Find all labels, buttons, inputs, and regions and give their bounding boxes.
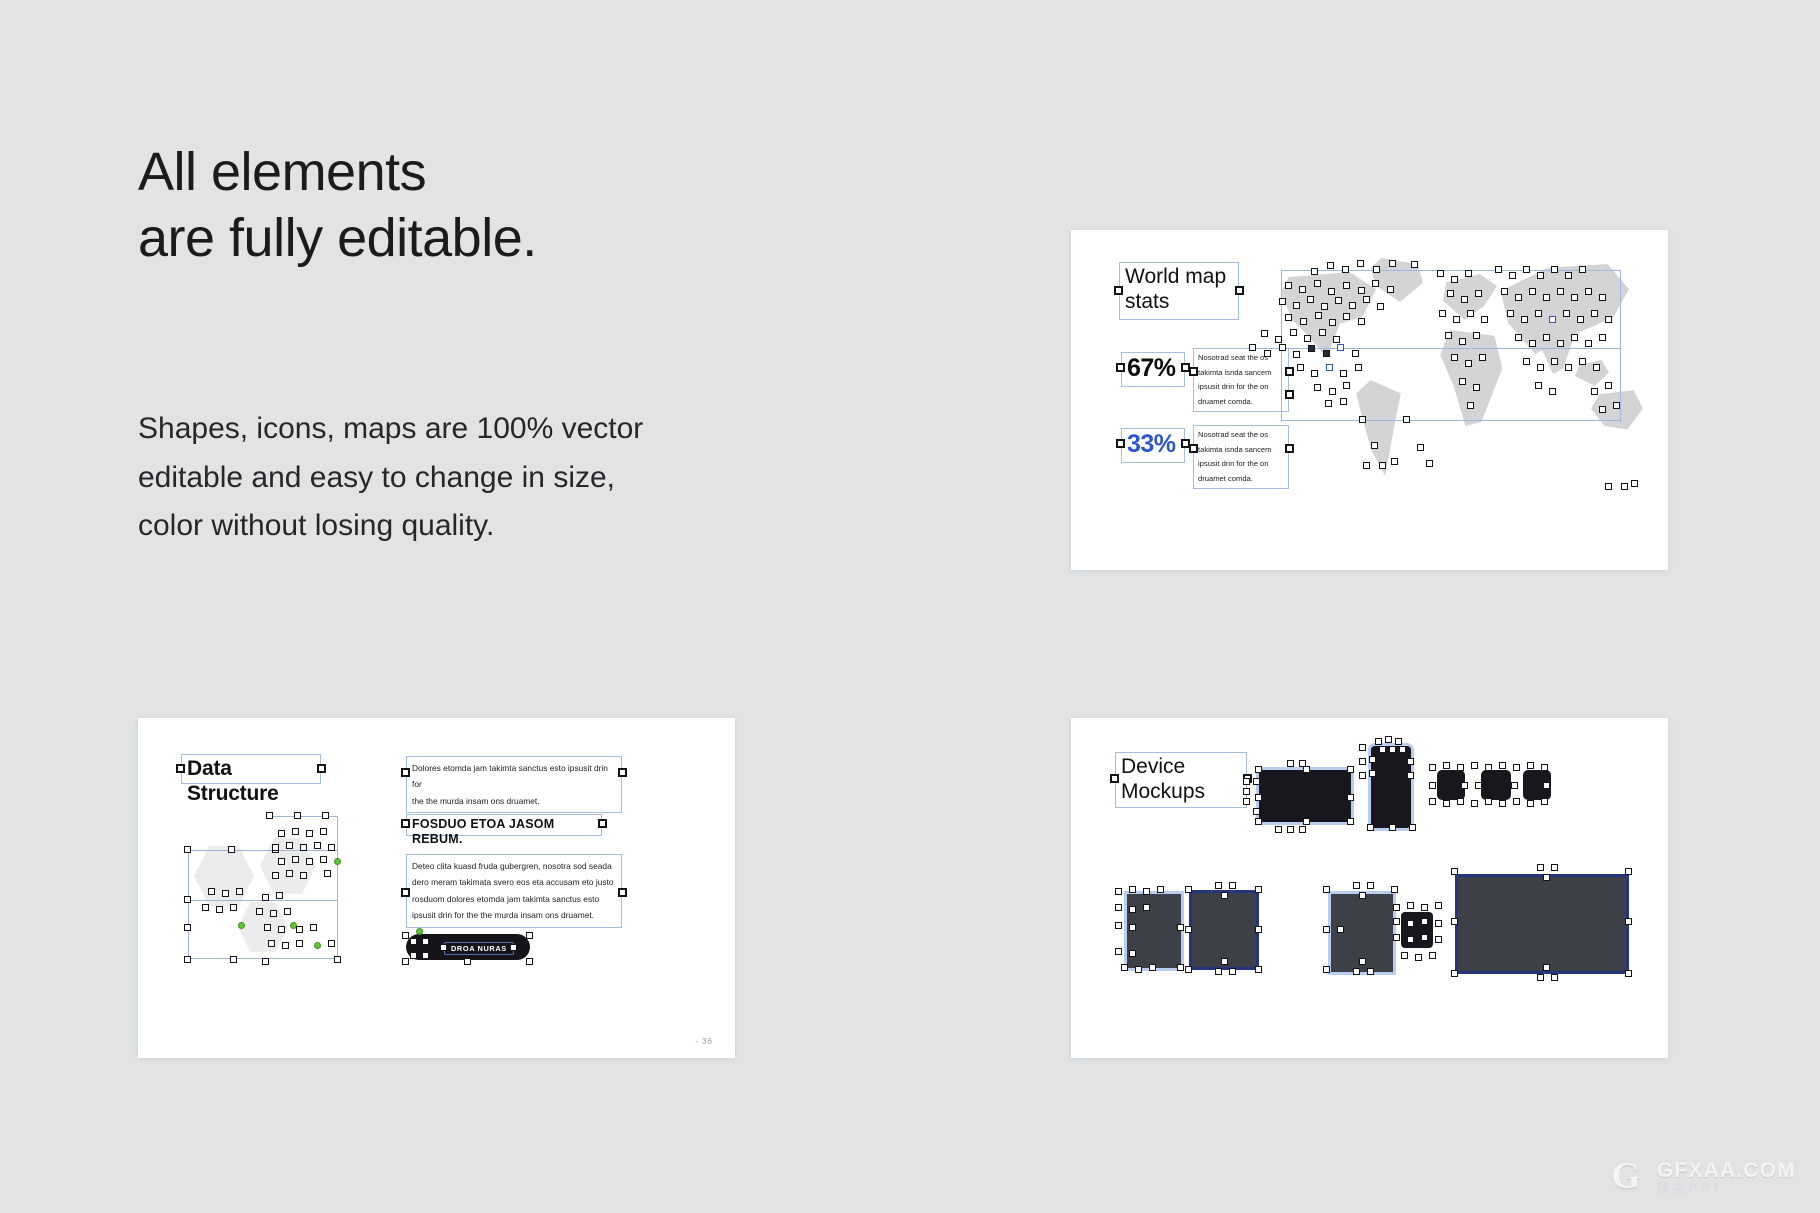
map-marker[interactable]	[1613, 402, 1620, 409]
selection-handle[interactable]	[1359, 958, 1366, 965]
selection-handle[interactable]	[208, 888, 215, 895]
selection-handle[interactable]	[272, 844, 279, 851]
map-marker[interactable]	[1465, 360, 1472, 367]
selection-handle[interactable]	[262, 894, 269, 901]
map-marker[interactable]	[1571, 334, 1578, 341]
map-marker[interactable]	[1571, 294, 1578, 301]
device-small-widget[interactable]	[1481, 770, 1511, 800]
selection-handle[interactable]	[1511, 782, 1518, 789]
selection-handle[interactable]	[1421, 904, 1428, 911]
map-marker[interactable]	[1417, 444, 1424, 451]
selection-handle[interactable]	[1407, 758, 1414, 765]
map-marker[interactable]	[1373, 266, 1380, 273]
selection-handle[interactable]	[296, 926, 303, 933]
selection-handle[interactable]	[1513, 764, 1520, 771]
map-marker[interactable]	[1599, 334, 1606, 341]
selection-handle[interactable]	[282, 942, 289, 949]
selection-handle[interactable]	[1429, 782, 1436, 789]
map-marker[interactable]	[1507, 310, 1514, 317]
map-marker[interactable]	[1529, 288, 1536, 295]
selection-handle[interactable]	[1255, 886, 1262, 893]
stat-value-67[interactable]: 67%	[1121, 352, 1185, 387]
selection-handle[interactable]	[526, 958, 533, 965]
selection-handle[interactable]	[1421, 918, 1428, 925]
selection-handle[interactable]	[1255, 766, 1262, 773]
map-marker[interactable]	[1358, 287, 1365, 294]
map-marker[interactable]	[1523, 358, 1530, 365]
map-marker[interactable]	[1557, 288, 1564, 295]
map-marker[interactable]	[1557, 340, 1564, 347]
map-marker[interactable]	[1299, 286, 1306, 293]
map-marker[interactable]	[1293, 302, 1300, 309]
selection-handle[interactable]	[1115, 904, 1122, 911]
map-marker[interactable]	[1515, 334, 1522, 341]
selection-handle[interactable]	[1235, 286, 1244, 295]
selection-handle[interactable]	[1551, 974, 1558, 981]
selection-handle[interactable]	[1451, 868, 1458, 875]
selection-handle[interactable]	[1471, 762, 1478, 769]
selection-handle[interactable]	[1369, 756, 1376, 763]
selection-handle[interactable]	[1177, 924, 1184, 931]
device-small-widget[interactable]	[1401, 912, 1433, 948]
map-marker[interactable]	[1349, 302, 1356, 309]
map-marker[interactable]	[1523, 266, 1530, 273]
selection-handle[interactable]	[1253, 778, 1260, 785]
selection-handle[interactable]	[268, 940, 275, 947]
map-marker[interactable]	[1275, 336, 1282, 343]
map-marker[interactable]	[1563, 310, 1570, 317]
selection-handle[interactable]	[1499, 800, 1506, 807]
map-marker[interactable]	[1543, 334, 1550, 341]
selection-handle[interactable]	[1185, 926, 1192, 933]
map-marker[interactable]	[1549, 388, 1556, 395]
map-marker[interactable]	[1565, 364, 1572, 371]
selection-handle[interactable]	[526, 932, 533, 939]
selection-handle[interactable]	[1407, 920, 1414, 927]
map-marker[interactable]	[1261, 330, 1268, 337]
selection-handle[interactable]	[1129, 906, 1136, 913]
map-marker[interactable]	[1319, 329, 1326, 336]
selection-handle[interactable]	[286, 870, 293, 877]
selection-handle[interactable]	[202, 904, 209, 911]
map-marker[interactable]	[1279, 298, 1286, 305]
selection-handle[interactable]	[184, 956, 191, 963]
selection-handle[interactable]	[1285, 390, 1294, 399]
map-marker[interactable]	[1467, 310, 1474, 317]
selection-handle[interactable]	[1435, 936, 1442, 943]
selection-handle[interactable]	[1443, 800, 1450, 807]
selection-handle[interactable]	[1443, 762, 1450, 769]
map-marker[interactable]	[1577, 316, 1584, 323]
map-marker[interactable]	[1328, 288, 1335, 295]
map-marker[interactable]	[1304, 335, 1311, 342]
selection-handle[interactable]	[1461, 782, 1468, 789]
selection-handle[interactable]	[1367, 882, 1374, 889]
selection-handle[interactable]	[1393, 934, 1400, 941]
selection-handle[interactable]	[1115, 888, 1122, 895]
selection-handle[interactable]	[1537, 864, 1544, 871]
selection-handle[interactable]	[1116, 363, 1125, 372]
map-marker[interactable]	[1585, 340, 1592, 347]
selection-handle[interactable]	[1299, 826, 1306, 833]
selection-handle[interactable]	[1189, 444, 1198, 453]
stat-blurb-33[interactable]: Nosotrad seat the os takimta isnda sance…	[1193, 425, 1289, 489]
selection-handle[interactable]	[1401, 952, 1408, 959]
selection-handle[interactable]	[1323, 966, 1330, 973]
map-marker[interactable]	[1439, 310, 1446, 317]
selection-handle[interactable]	[1359, 758, 1366, 765]
map-marker[interactable]	[1389, 260, 1396, 267]
selection-handle[interactable]	[1347, 818, 1354, 825]
selection-handle[interactable]	[401, 819, 410, 828]
selection-handle[interactable]	[222, 890, 229, 897]
selection-handle[interactable]	[1116, 439, 1125, 448]
map-marker[interactable]	[1579, 358, 1586, 365]
selection-handle[interactable]	[1485, 798, 1492, 805]
map-marker[interactable]	[1335, 297, 1342, 304]
selection-handle[interactable]	[1215, 882, 1222, 889]
selection-handle[interactable]	[1221, 958, 1228, 965]
map-marker[interactable]	[1387, 286, 1394, 293]
selection-handle[interactable]	[1299, 760, 1306, 767]
map-marker[interactable]	[1451, 276, 1458, 283]
selection-handle[interactable]	[1393, 904, 1400, 911]
map-marker[interactable]	[1467, 402, 1474, 409]
selection-handle[interactable]	[278, 830, 285, 837]
map-marker[interactable]	[1501, 288, 1508, 295]
selection-handle[interactable]	[300, 844, 307, 851]
selection-handle[interactable]	[1255, 966, 1262, 973]
selection-handle[interactable]	[1389, 824, 1396, 831]
selection-handle[interactable]	[296, 940, 303, 947]
selection-handle-rotate[interactable]	[416, 928, 423, 935]
selection-handle[interactable]	[306, 858, 313, 865]
selection-handle[interactable]	[184, 924, 191, 931]
selection-handle[interactable]	[1513, 798, 1520, 805]
selection-handle[interactable]	[1275, 826, 1282, 833]
selection-handle[interactable]	[510, 944, 517, 951]
selection-handle[interactable]	[1129, 924, 1136, 931]
map-marker[interactable]	[1323, 350, 1330, 357]
selection-handle[interactable]	[1243, 798, 1250, 805]
selection-handle[interactable]	[1129, 886, 1136, 893]
selection-handle[interactable]	[401, 888, 410, 897]
slide-preview-data-structure[interactable]: Data Structure	[138, 718, 735, 1058]
selection-handle[interactable]	[324, 870, 331, 877]
map-marker[interactable]	[1585, 288, 1592, 295]
map-marker[interactable]	[1529, 340, 1536, 347]
map-marker[interactable]	[1264, 350, 1271, 357]
selection-handle[interactable]	[1451, 918, 1458, 925]
slide-title-data-structure[interactable]: Data Structure	[181, 754, 321, 784]
selection-handle[interactable]	[401, 768, 410, 777]
selection-handle[interactable]	[286, 842, 293, 849]
map-marker[interactable]	[1315, 312, 1322, 319]
selection-handle[interactable]	[1385, 736, 1392, 743]
selection-handle[interactable]	[1625, 868, 1632, 875]
selection-handle[interactable]	[1243, 788, 1250, 795]
selection-handle[interactable]	[1115, 922, 1122, 929]
selection-handle[interactable]	[1435, 920, 1442, 927]
selection-handle[interactable]	[1421, 934, 1428, 941]
selection-handle[interactable]	[1393, 918, 1400, 925]
selection-handle[interactable]	[1359, 744, 1366, 751]
selection-handle[interactable]	[300, 872, 307, 879]
selection-handle[interactable]	[1541, 798, 1548, 805]
selection-handle[interactable]	[1215, 968, 1222, 975]
map-marker[interactable]	[1605, 382, 1612, 389]
map-marker-highlight[interactable]	[1337, 344, 1344, 351]
subheading-data-structure[interactable]: FOSDUO ETOA JASOM REBUM.	[406, 814, 602, 836]
map-marker[interactable]	[1300, 318, 1307, 325]
map-marker[interactable]	[1279, 344, 1286, 351]
selection-handle[interactable]	[1543, 874, 1550, 881]
selection-handle[interactable]	[284, 908, 291, 915]
selection-handle[interactable]	[1625, 918, 1632, 925]
selection-handle[interactable]	[1415, 954, 1422, 961]
selection-handle[interactable]	[1457, 764, 1464, 771]
selection-handle[interactable]	[1185, 886, 1192, 893]
selection-handle[interactable]	[184, 846, 191, 853]
selection-handle[interactable]	[176, 764, 185, 773]
slide-preview-world-map[interactable]: World map stats 67% Nosotrad seat the os…	[1071, 230, 1668, 570]
selection-handle[interactable]	[310, 924, 317, 931]
map-marker[interactable]	[1329, 388, 1336, 395]
selection-handle[interactable]	[402, 932, 409, 939]
selection-handle[interactable]	[276, 892, 283, 899]
selection-handle[interactable]	[228, 846, 235, 853]
map-marker[interactable]	[1363, 462, 1370, 469]
selection-handle[interactable]	[1471, 800, 1478, 807]
map-marker[interactable]	[1591, 310, 1598, 317]
map-marker[interactable]	[1308, 345, 1315, 352]
selection-handle[interactable]	[1149, 964, 1156, 971]
selection-handle[interactable]	[320, 828, 327, 835]
map-marker[interactable]	[1451, 354, 1458, 361]
selection-handle[interactable]	[1303, 766, 1310, 773]
map-marker[interactable]	[1311, 268, 1318, 275]
map-marker[interactable]	[1321, 303, 1328, 310]
selection-handle[interactable]	[1255, 818, 1262, 825]
selection-handle[interactable]	[1359, 772, 1366, 779]
map-marker[interactable]	[1311, 370, 1318, 377]
selection-handle[interactable]	[1143, 888, 1150, 895]
selection-handle[interactable]	[422, 952, 429, 959]
selection-handle[interactable]	[256, 908, 263, 915]
selection-handle[interactable]	[1605, 483, 1612, 490]
map-marker[interactable]	[1565, 272, 1572, 279]
map-marker[interactable]	[1481, 316, 1488, 323]
selection-handle[interactable]	[320, 856, 327, 863]
selection-handle[interactable]	[1135, 966, 1142, 973]
selection-handle[interactable]	[278, 926, 285, 933]
map-marker[interactable]	[1447, 290, 1454, 297]
selection-handle[interactable]	[1621, 483, 1628, 490]
selection-handle[interactable]	[1287, 826, 1294, 833]
selection-handle[interactable]	[1129, 950, 1136, 957]
selection-handle[interactable]	[1285, 367, 1294, 376]
selection-handle[interactable]	[334, 956, 341, 963]
map-marker[interactable]	[1371, 442, 1378, 449]
stat-value-33[interactable]: 33%	[1121, 428, 1185, 463]
selection-handle-rotate[interactable]	[334, 858, 341, 865]
map-marker[interactable]	[1359, 416, 1366, 423]
map-marker[interactable]	[1479, 354, 1486, 361]
selection-handle[interactable]	[1399, 746, 1406, 753]
device-phone-portrait[interactable]	[1371, 746, 1411, 828]
device-tablet-landscape[interactable]	[1259, 770, 1351, 822]
selection-handle[interactable]	[1435, 902, 1442, 909]
map-marker[interactable]	[1357, 260, 1364, 267]
selection-handle[interactable]	[1110, 774, 1119, 783]
map-marker[interactable]	[1599, 294, 1606, 301]
selection-handle[interactable]	[294, 812, 301, 819]
selection-handle[interactable]	[1379, 746, 1386, 753]
selection-handle[interactable]	[1631, 480, 1638, 487]
selection-handle[interactable]	[292, 828, 299, 835]
selection-handle[interactable]	[1367, 824, 1374, 831]
selection-handle[interactable]	[306, 830, 313, 837]
selection-handle[interactable]	[1391, 886, 1398, 893]
slide-title-world-map[interactable]: World map stats	[1119, 262, 1239, 320]
selection-handle[interactable]	[236, 888, 243, 895]
map-marker[interactable]	[1343, 382, 1350, 389]
map-marker[interactable]	[1537, 364, 1544, 371]
selection-handle[interactable]	[1543, 964, 1550, 971]
map-marker[interactable]	[1473, 384, 1480, 391]
selection-handle[interactable]	[1429, 798, 1436, 805]
map-marker[interactable]	[1591, 388, 1598, 395]
map-marker[interactable]	[1426, 460, 1433, 467]
selection-handle[interactable]	[266, 812, 273, 819]
selection-handle[interactable]	[598, 819, 607, 828]
selection-handle[interactable]	[1353, 968, 1360, 975]
selection-handle[interactable]	[264, 924, 271, 931]
selection-handle[interactable]	[1323, 886, 1330, 893]
selection-handle[interactable]	[1323, 926, 1330, 933]
selection-handle[interactable]	[1121, 964, 1128, 971]
map-marker[interactable]	[1352, 350, 1359, 357]
map-marker[interactable]	[1459, 338, 1466, 345]
selection-handle[interactable]	[322, 812, 329, 819]
map-marker[interactable]	[1327, 262, 1334, 269]
selection-handle[interactable]	[618, 888, 627, 897]
selection-handle-rotate[interactable]	[238, 922, 245, 929]
selection-handle[interactable]	[1359, 892, 1366, 899]
selection-handle[interactable]	[618, 768, 627, 777]
selection-handle[interactable]	[1537, 974, 1544, 981]
selection-handle[interactable]	[278, 858, 285, 865]
selection-handle[interactable]	[1367, 968, 1374, 975]
paragraph-body[interactable]: Deteo clita kuasd fruda gubergren, nosot…	[406, 854, 622, 928]
slide-preview-device-mockups[interactable]: Device Mockups	[1071, 718, 1668, 1058]
selection-handle[interactable]	[1409, 824, 1416, 831]
selection-handle[interactable]	[292, 856, 299, 863]
map-marker[interactable]	[1372, 280, 1379, 287]
map-marker[interactable]	[1285, 314, 1292, 321]
selection-handle[interactable]	[422, 938, 429, 945]
map-marker[interactable]	[1473, 332, 1480, 339]
map-marker[interactable]	[1340, 398, 1347, 405]
map-marker[interactable]	[1535, 382, 1542, 389]
selection-handle[interactable]	[1177, 964, 1184, 971]
map-marker[interactable]	[1521, 316, 1528, 323]
selection-handle[interactable]	[1255, 926, 1262, 933]
selection-handle[interactable]	[272, 872, 279, 879]
selection-handle[interactable]	[230, 956, 237, 963]
selection-handle[interactable]	[1337, 926, 1344, 933]
map-marker-highlight[interactable]	[1326, 364, 1333, 371]
map-marker[interactable]	[1551, 266, 1558, 273]
map-marker[interactable]	[1363, 296, 1370, 303]
selection-handle[interactable]	[1451, 970, 1458, 977]
selection-handle[interactable]	[1253, 808, 1260, 815]
map-marker[interactable]	[1411, 261, 1418, 268]
map-marker[interactable]	[1465, 270, 1472, 277]
map-marker[interactable]	[1377, 303, 1384, 310]
map-marker[interactable]	[1249, 344, 1256, 351]
map-marker[interactable]	[1543, 294, 1550, 301]
selection-handle[interactable]	[1189, 367, 1198, 376]
paragraph-intro[interactable]: Dolores etomda jam takimta sanctus esto …	[406, 756, 622, 813]
map-marker[interactable]	[1290, 329, 1297, 336]
selection-handle[interactable]	[1303, 818, 1310, 825]
selection-handle[interactable]	[262, 958, 269, 965]
map-marker[interactable]	[1329, 319, 1336, 326]
map-marker[interactable]	[1325, 400, 1332, 407]
selection-handle[interactable]	[270, 910, 277, 917]
map-marker[interactable]	[1495, 266, 1502, 273]
stat-blurb-67[interactable]: Nosotrad seat the os takimta isnda sance…	[1193, 348, 1289, 412]
selection-handle[interactable]	[1429, 952, 1436, 959]
selection-handle-rotate[interactable]	[314, 942, 321, 949]
map-marker[interactable]	[1297, 364, 1304, 371]
selection-handle[interactable]	[1347, 766, 1354, 773]
selection-handle[interactable]	[1221, 892, 1228, 899]
selection-handle[interactable]	[440, 944, 447, 951]
map-marker[interactable]	[1579, 266, 1586, 273]
selection-handle[interactable]	[328, 844, 335, 851]
map-marker[interactable]	[1285, 282, 1292, 289]
selection-handle[interactable]	[1543, 782, 1550, 789]
selection-handle[interactable]	[230, 904, 237, 911]
selection-handle[interactable]	[314, 842, 321, 849]
selection-handle[interactable]	[1229, 968, 1236, 975]
selection-handle[interactable]	[1407, 772, 1414, 779]
selection-handle[interactable]	[1369, 770, 1376, 777]
map-marker[interactable]	[1307, 296, 1314, 303]
selection-handle[interactable]	[1353, 882, 1360, 889]
selection-handle[interactable]	[1527, 800, 1534, 807]
map-marker[interactable]	[1605, 316, 1612, 323]
map-marker[interactable]	[1535, 310, 1542, 317]
map-marker[interactable]	[1314, 384, 1321, 391]
map-marker[interactable]	[1343, 282, 1350, 289]
map-marker[interactable]	[1342, 266, 1349, 273]
selection-handle[interactable]	[1185, 966, 1192, 973]
selection-handle[interactable]	[1287, 760, 1294, 767]
map-marker[interactable]	[1445, 332, 1452, 339]
map-marker[interactable]	[1551, 358, 1558, 365]
selection-handle[interactable]	[328, 940, 335, 947]
map-marker[interactable]	[1379, 462, 1386, 469]
selection-handle[interactable]	[1243, 778, 1250, 785]
map-marker[interactable]	[1437, 270, 1444, 277]
selection-handle[interactable]	[402, 958, 409, 965]
map-marker[interactable]	[1358, 318, 1365, 325]
selection-handle[interactable]	[1347, 794, 1354, 801]
selection-handle[interactable]	[1499, 762, 1506, 769]
